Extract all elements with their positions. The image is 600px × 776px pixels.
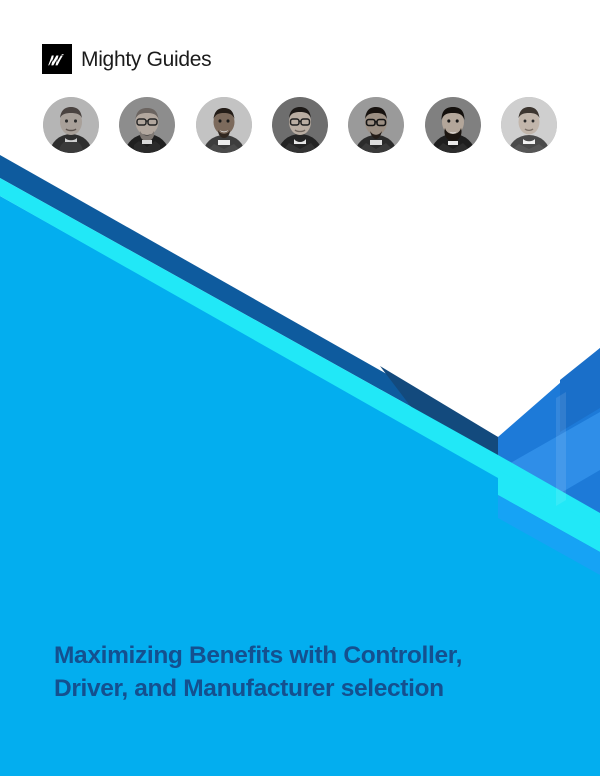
avatar[interactable] (119, 97, 175, 153)
page-subtitle-line-1: Maximizing Benefits with Controller, (54, 639, 564, 672)
avatar[interactable] (43, 97, 99, 153)
brand-name: Mighty Guides (81, 49, 211, 70)
background-sheen-line (556, 392, 566, 506)
avatar[interactable] (348, 97, 404, 153)
expert-avatar-row (43, 96, 557, 154)
avatar[interactable] (425, 97, 481, 153)
brand-logo[interactable]: Mighty Guides (42, 44, 211, 74)
mighty-guides-m-monogram-icon (42, 44, 72, 74)
page-subtitle: Maximizing Benefits with Controller, Dri… (54, 639, 564, 705)
cover-page: Mighty Guides (0, 0, 600, 776)
avatar[interactable] (272, 97, 328, 153)
avatar[interactable] (501, 97, 557, 153)
avatar[interactable] (196, 97, 252, 153)
page-subtitle-line-2: Driver, and Manufacturer selection (54, 672, 564, 705)
